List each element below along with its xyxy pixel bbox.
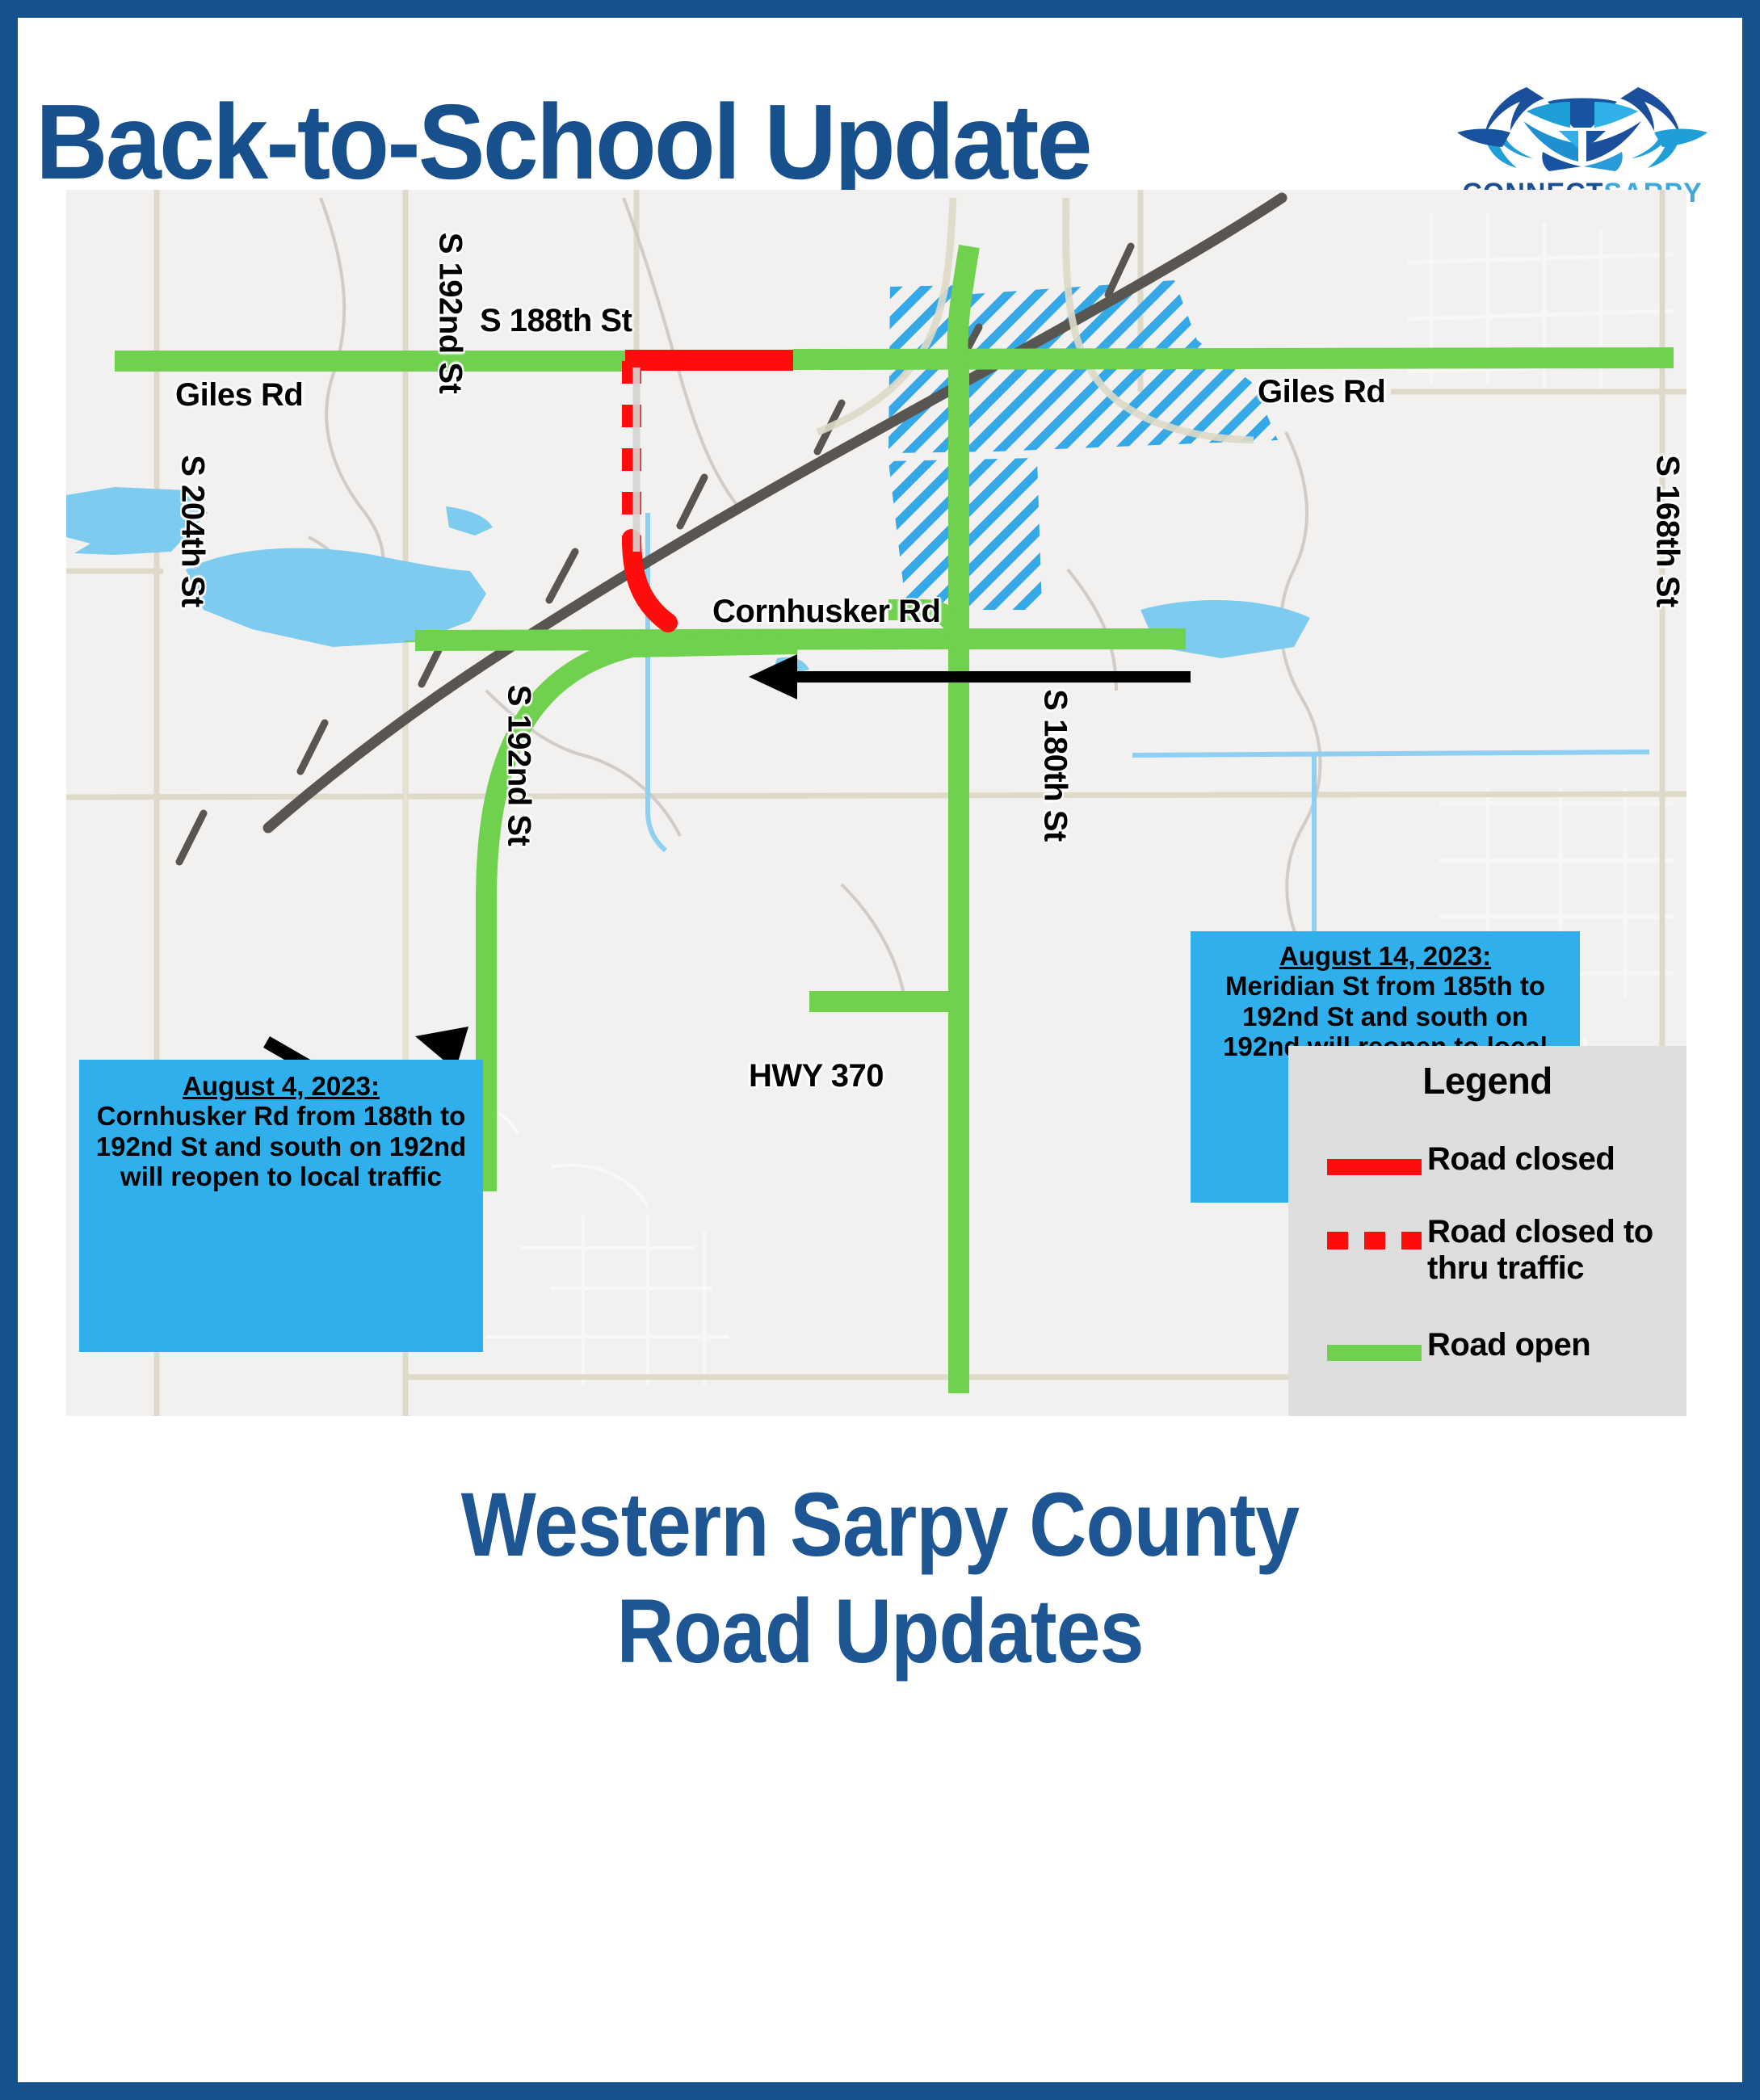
footer-title-line1: Western Sarpy County [121,1472,1639,1578]
legend-title: Legend [1288,1059,1686,1102]
street-label-giles-west: Giles Rd [175,377,303,414]
legend-solid-green-line-icon [1327,1345,1422,1361]
legend-solid-red-line-icon [1327,1159,1422,1175]
legend-label-road-open: Road open [1427,1327,1590,1363]
street-label-giles-east: Giles Rd [1258,374,1385,410]
bull-horns-icon [1449,74,1716,187]
legend-label-road-closed-thru: Road closed to thru traffic [1427,1214,1670,1287]
callout-august-4[interactable]: August 4, 2023: Cornhusker Rd from 188th… [79,1060,483,1352]
street-label-s180th: S 180th St [1037,689,1073,841]
street-label-hwy370: HWY 370 [749,1058,884,1094]
legend-dashed-red-line-icon [1327,1232,1422,1249]
legend-label-road-closed: Road closed [1427,1141,1615,1178]
street-label-s192nd-north: S 192nd St [431,233,468,394]
legend-item-road-closed-thru: Road closed to thru traffic [1288,1214,1686,1303]
page-title: Back-to-School Update [36,81,1090,203]
street-label-cornhusker: Cornhusker Rd [712,594,940,630]
poster-frame: Back-to-School Update [18,18,1742,2082]
street-label-s168th: S 168th St [1649,455,1686,607]
map-legend: Legend Road closed Road closed to thru t… [1288,1046,1686,1416]
footer: Western Sarpy County Road Updates [18,1472,1742,1685]
callout-august-4-date: August 4, 2023: [92,1071,470,1101]
street-label-s204th: S 204th St [174,455,211,607]
footer-title-line2: Road Updates [121,1578,1639,1685]
callout-august-4-body: Cornhusker Rd from 188th to 192nd St and… [96,1101,466,1191]
callout-august-14-date: August 14, 2023: [1200,941,1570,971]
street-label-s192nd-south: S 192nd St [500,685,536,846]
street-label-s188th: S 188th St [480,303,632,339]
road-closure-map[interactable]: S 192nd St S 188th St Giles Rd Giles Rd … [66,190,1686,1416]
